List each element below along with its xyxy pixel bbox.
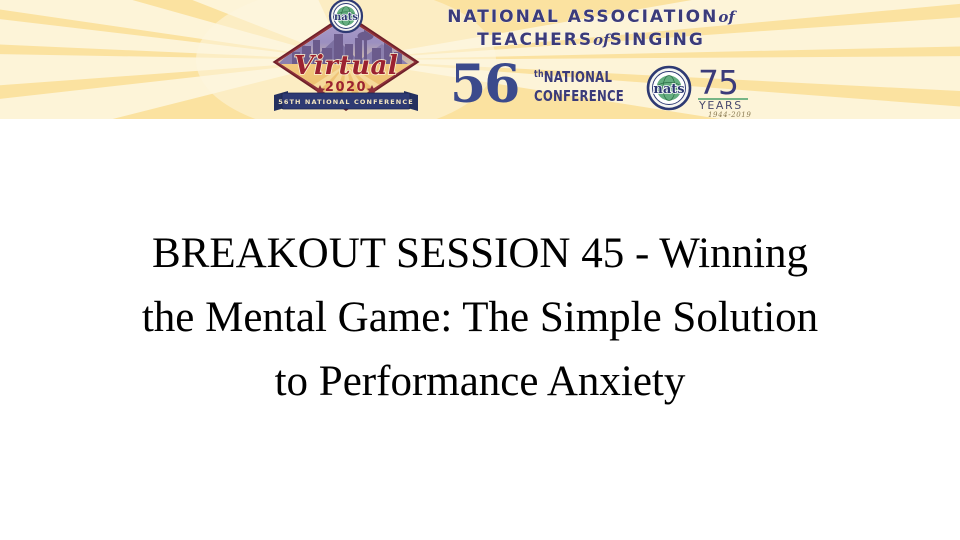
association-line-2-text: TEACHERS: [477, 30, 593, 50]
title-line-2: the Mental Game: The Simple Solution: [30, 286, 930, 350]
anniversary-number: 75: [698, 63, 738, 102]
conference-ribbon: 56TH NATIONAL CONFERENCE: [274, 91, 418, 111]
nats-wordmark-block: NATIONAL ASSOCIATIONof TEACHERSofSINGING…: [426, 9, 756, 117]
75-years-anniversary-mark: nats 75 YEARS 1944-2019: [644, 61, 756, 119]
virtual-wordmark: Virtual: [294, 51, 398, 81]
nats-virtual-2020-logo: Virtual 2020 56TH NATIONAL CONFERENCE: [258, 0, 434, 119]
association-line-2: TEACHERSofSINGING: [426, 32, 756, 49]
nats-seal-small-icon: nats: [648, 67, 690, 109]
conference-suffix: th: [534, 69, 544, 80]
nats-seal-icon: nats: [330, 0, 362, 32]
association-of-2: of: [593, 31, 609, 49]
conference-number-row: 56 thNATIONAL CONFERENCE: [426, 61, 756, 119]
conference-line1: NATIONAL: [544, 68, 612, 86]
conference-label: thNATIONAL CONFERENCE: [534, 65, 624, 106]
slide-title-area: BREAKOUT SESSION 45 - Winning the Mental…: [30, 222, 930, 414]
association-of-1: of: [718, 8, 734, 26]
title-line-3: to Performance Anxiety: [30, 350, 930, 414]
anniversary-years-range: 1944-2019: [708, 111, 751, 119]
association-line-1-text: NATIONAL ASSOCIATION: [447, 7, 718, 27]
title-line-1: BREAKOUT SESSION 45 - Winning: [30, 222, 930, 286]
svg-text:nats: nats: [334, 12, 358, 23]
svg-text:nats: nats: [653, 82, 684, 97]
conference-line2: CONFERENCE: [534, 87, 624, 105]
svg-text:56TH NATIONAL CONFERENCE: 56TH NATIONAL CONFERENCE: [278, 98, 414, 106]
conference-banner: Virtual 2020 56TH NATIONAL CONFERENCE: [0, 0, 960, 119]
conference-number: 56: [450, 59, 518, 111]
association-line-1: NATIONAL ASSOCIATIONof: [426, 9, 756, 26]
association-line-2-tail: SINGING: [610, 30, 705, 50]
page-title: BREAKOUT SESSION 45 - Winning the Mental…: [30, 222, 930, 414]
